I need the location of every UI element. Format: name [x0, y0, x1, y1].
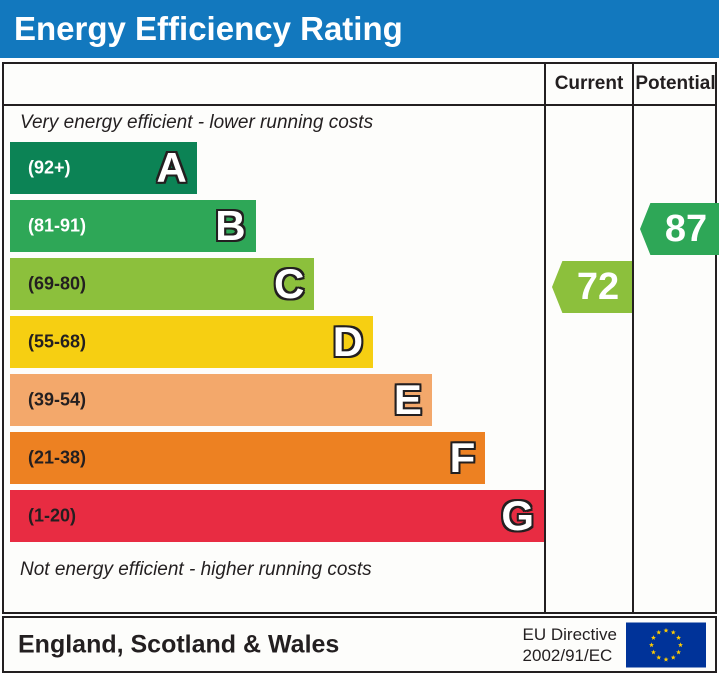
rating-band-b: (81-91)B: [10, 200, 256, 252]
band-range-label: (69-80): [28, 274, 86, 295]
potential-rating-arrow: 87: [640, 203, 719, 255]
band-letter-label: F: [450, 437, 476, 479]
rating-band-d: (55-68)D: [10, 316, 373, 368]
footer-directive-line1: EU Directive: [523, 623, 617, 644]
caption-efficient: Very energy efficient - lower running co…: [20, 112, 373, 134]
energy-efficiency-rating-chart: Energy Efficiency Rating Current Potenti…: [0, 0, 719, 675]
chart-title-bar: Energy Efficiency Rating: [0, 0, 719, 58]
eu-flag-icon: [626, 622, 706, 667]
band-letter-label: C: [274, 263, 304, 305]
rating-band-e: (39-54)E: [10, 374, 432, 426]
band-range-label: (81-91): [28, 216, 86, 237]
caption-inefficient: Not energy efficient - higher running co…: [20, 559, 372, 581]
current-column-divider: [544, 64, 546, 612]
band-letter-label: E: [394, 379, 422, 421]
band-range-label: (92+): [28, 158, 71, 179]
current-rating-arrow: 72: [552, 261, 632, 313]
band-letter-label: A: [157, 147, 187, 189]
header-divider: [4, 104, 715, 106]
rating-band-c: (69-80)C: [10, 258, 314, 310]
chart-footer: England, Scotland & Wales EU Directive 2…: [2, 616, 717, 673]
current-rating-value: 72: [565, 268, 619, 306]
page-title: Energy Efficiency Rating: [14, 10, 403, 48]
band-range-label: (55-68): [28, 332, 86, 353]
footer-directive-line2: 2002/91/EC: [523, 645, 617, 666]
rating-table: Current Potential Very energy efficient …: [2, 62, 717, 614]
potential-column-divider: [632, 64, 634, 612]
band-range-label: (39-54): [28, 390, 86, 411]
rating-bands: (92+)A(81-91)B(69-80)C(55-68)D(39-54)E(2…: [10, 142, 544, 552]
footer-directive: EU Directive 2002/91/EC: [523, 623, 617, 666]
band-range-label: (1-20): [28, 506, 76, 527]
column-header-potential: Potential: [634, 64, 717, 104]
footer-region-label: England, Scotland & Wales: [18, 630, 339, 659]
band-letter-label: B: [215, 205, 245, 247]
rating-band-g: (1-20)G: [10, 490, 544, 542]
column-header-current: Current: [546, 64, 632, 104]
band-letter-label: D: [333, 321, 363, 363]
rating-band-a: (92+)A: [10, 142, 197, 194]
potential-rating-value: 87: [653, 210, 707, 248]
band-range-label: (21-38): [28, 448, 86, 469]
rating-band-f: (21-38)F: [10, 432, 485, 484]
band-letter-label: G: [501, 495, 534, 537]
